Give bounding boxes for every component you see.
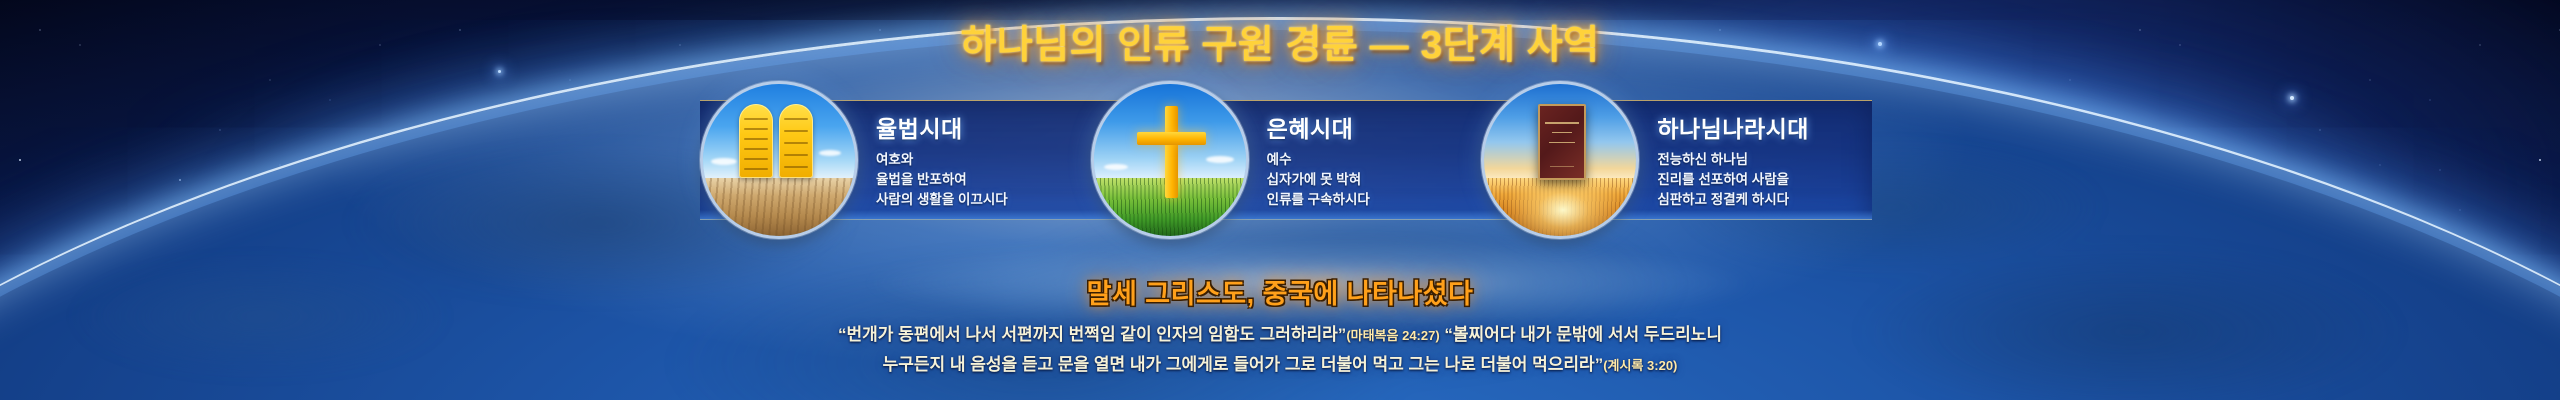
stage-desc-line: 인류를 구속하시다 bbox=[1267, 190, 1370, 210]
tablet-left-icon bbox=[739, 104, 773, 178]
cloud-icon bbox=[1206, 156, 1234, 163]
stage-desc-line: 전능하신 하나님 bbox=[1657, 150, 1809, 170]
stage-text-block: 하나님나라시대 전능하신 하나님 진리를 선포하여 사람을 심판하고 정결케 하… bbox=[1657, 110, 1809, 210]
stage-desc-line: 여호와 bbox=[876, 150, 1008, 170]
scripture-quote-1: “번개가 동편에서 나서 서편까지 번쩍임 같이 인자의 임함도 그러하리라” bbox=[838, 325, 1346, 344]
stage-desc-line: 진리를 선포하여 사람을 bbox=[1657, 170, 1809, 190]
cross-icon bbox=[1091, 81, 1249, 239]
scripture-block: “번개가 동편에서 나서 서편까지 번쩍임 같이 인자의 임함도 그러하리라”(… bbox=[0, 320, 2560, 380]
scripture-quote-2-start: “볼찌어다 내가 문밖에 서서 두드리노니 bbox=[1444, 325, 1722, 344]
cloud-icon bbox=[1104, 164, 1128, 170]
scripture-ref-1: (마태복음 24:27) bbox=[1346, 328, 1439, 343]
tablet-right-icon bbox=[779, 104, 813, 178]
scripture-line-2: 누구든지 내 음성을 듣고 문을 열면 내가 그에게로 들어가 그로 더불어 먹… bbox=[0, 350, 2560, 380]
book-cover-icon bbox=[1538, 104, 1586, 180]
cross-horizontal-bar bbox=[1137, 132, 1206, 145]
stage-item-law-age[interactable]: 율법시대 여호와 율법을 반포하여 사람의 생활을 이끄시다 bbox=[700, 100, 1091, 220]
three-stage-band: 율법시대 여호와 율법을 반포하여 사람의 생활을 이끄시다 은혜시대 bbox=[700, 100, 1872, 220]
stage-desc-line: 예수 bbox=[1267, 150, 1370, 170]
stage-desc-line: 사람의 생활을 이끄시다 bbox=[876, 190, 1008, 210]
page-title: 하나님의 인류 구원 경륜 — 3단계 사역 bbox=[0, 14, 2560, 70]
scripture-line-1: “번개가 동편에서 나서 서편까지 번쩍임 같이 인자의 임함도 그러하리라”(… bbox=[0, 320, 2560, 350]
banner-stage: 하나님의 인류 구원 경륜 — 3단계 사역 bbox=[0, 0, 2560, 400]
stage-desc-line: 심판하고 정결케 하시다 bbox=[1657, 190, 1809, 210]
stage-item-kingdom-age[interactable]: 하나님나라시대 전능하신 하나님 진리를 선포하여 사람을 심판하고 정결케 하… bbox=[1481, 100, 1872, 220]
cross-vertical-bar bbox=[1165, 106, 1178, 198]
stage-name: 하나님나라시대 bbox=[1657, 110, 1809, 144]
stage-name: 은혜시대 bbox=[1267, 110, 1370, 144]
stage-name: 율법시대 bbox=[876, 110, 1008, 144]
stage-text-block: 은혜시대 예수 십자가에 못 박혀 인류를 구속하시다 bbox=[1267, 110, 1370, 210]
holy-book-icon bbox=[1481, 81, 1639, 239]
stage-item-grace-age[interactable]: 은혜시대 예수 십자가에 못 박혀 인류를 구속하시다 bbox=[1091, 100, 1482, 220]
stage-text-block: 율법시대 여호와 율법을 반포하여 사람의 생활을 이끄시다 bbox=[876, 110, 1008, 210]
scripture-quote-2-end: 누구든지 내 음성을 듣고 문을 열면 내가 그에게로 들어가 그로 더불어 먹… bbox=[883, 355, 1604, 374]
scripture-ref-2: (계시록 3:20) bbox=[1603, 358, 1677, 373]
subtitle-headline: 말세 그리스도, 중국에 나타나셨다 bbox=[0, 272, 2560, 311]
cloud-icon bbox=[819, 150, 841, 156]
stage-list: 율법시대 여호와 율법을 반포하여 사람의 생활을 이끄시다 은혜시대 bbox=[700, 100, 1872, 220]
stone-tablets-icon bbox=[700, 81, 858, 239]
stage-desc-line: 율법을 반포하여 bbox=[876, 170, 1008, 190]
medallion-ground bbox=[703, 178, 855, 236]
stage-desc-line: 십자가에 못 박혀 bbox=[1267, 170, 1370, 190]
cloud-icon bbox=[711, 158, 737, 165]
